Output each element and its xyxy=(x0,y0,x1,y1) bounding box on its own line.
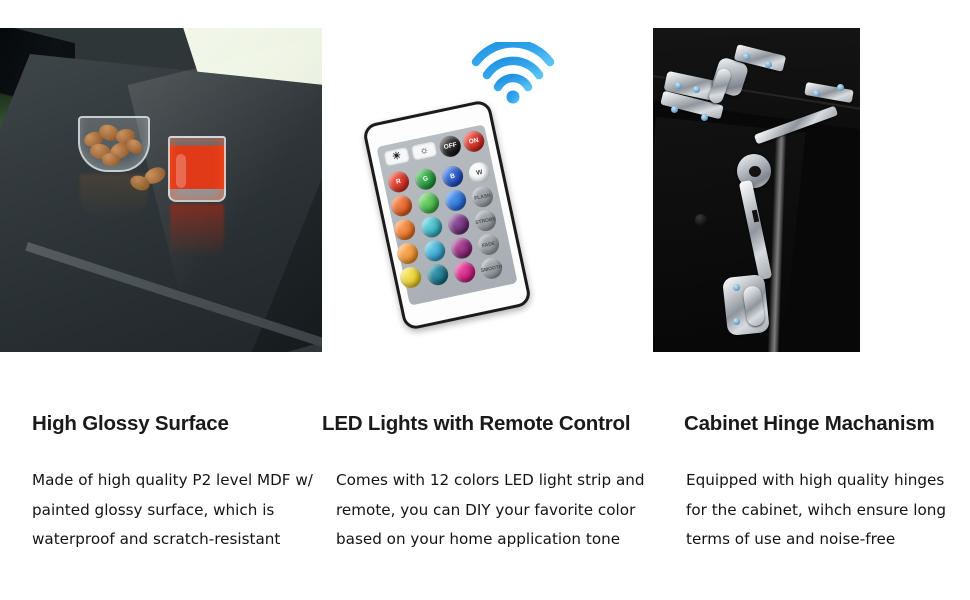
hinge-screw xyxy=(743,53,750,60)
led-remote-photo: ☀ ☼ OFF ON R G B W FLASH STROBE FADE xyxy=(330,28,650,352)
cabinet-hinge-photo xyxy=(653,28,860,352)
feature-column-2: LED Lights with Remote Control Comes wit… xyxy=(334,412,650,555)
stay-foot-screw xyxy=(733,284,740,291)
feature-body-1: Made of high quality P2 level MDF w/ pai… xyxy=(32,466,324,555)
glossy-surface-scene xyxy=(0,28,322,352)
wifi-signal-icon xyxy=(470,42,556,104)
hinge-screw xyxy=(671,106,678,113)
feature-column-3: Cabinet Hinge Machanism Equipped with hi… xyxy=(684,412,966,555)
hinge-screw xyxy=(675,82,682,89)
hinge-screw xyxy=(693,86,700,93)
feature-headline-1: High Glossy Surface xyxy=(32,412,324,436)
glossy-surface-photo xyxy=(0,28,322,352)
feature-body-3: Equipped with high quality hinges for th… xyxy=(686,466,966,555)
feature-body-2: Comes with 12 colors LED light strip and… xyxy=(336,466,650,555)
stay-pivot-center xyxy=(749,166,761,177)
almond-pile xyxy=(82,122,146,164)
drink-reflection xyxy=(170,204,224,258)
glass-of-drink xyxy=(168,136,226,202)
stay-arm-screw xyxy=(837,84,844,91)
hinge-screw xyxy=(765,61,772,68)
feature-column-1: High Glossy Surface Made of high quality… xyxy=(32,412,324,555)
feature-grid-page: ☀ ☼ OFF ON R G B W FLASH STROBE FADE xyxy=(0,0,970,600)
stay-foot-screw xyxy=(733,318,740,325)
feature-headline-2: LED Lights with Remote Control xyxy=(322,412,650,436)
stay-arm-screw xyxy=(813,90,820,97)
feature-headline-3: Cabinet Hinge Machanism xyxy=(684,412,966,436)
led-remote-control[interactable]: ☀ ☼ OFF ON R G B W FLASH STROBE FADE xyxy=(362,99,533,331)
cabinet-scene xyxy=(653,28,860,352)
cabinet-screw-hole xyxy=(695,214,707,226)
hinge-screw xyxy=(701,114,708,121)
